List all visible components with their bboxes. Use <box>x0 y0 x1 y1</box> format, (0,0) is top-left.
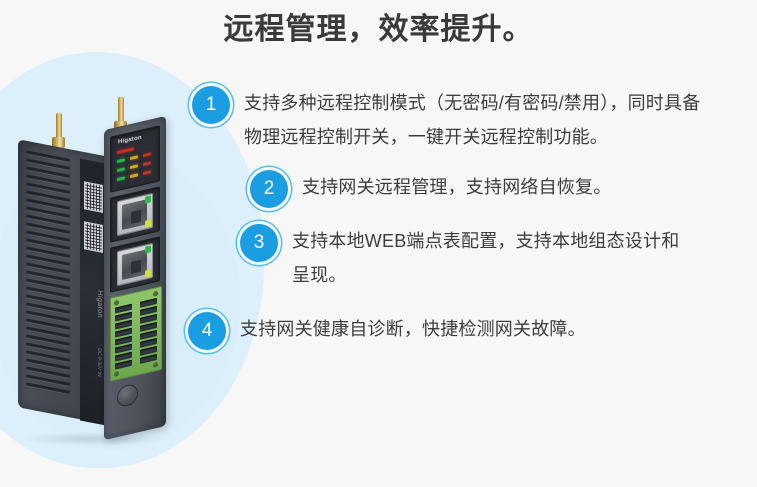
feature-highlight-page: 远程管理，效率提升。 Higaton <box>0 0 757 487</box>
qr-code-secondary-icon <box>84 221 103 253</box>
ethernet-port-1 <box>110 186 160 243</box>
side-print-text: DC 9-36V IN <box>84 345 102 404</box>
side-brand-logo: Higaton <box>83 287 103 335</box>
device-front-panel: Higaton <box>110 125 160 382</box>
status-bar-led <box>117 147 134 154</box>
feature-badge-4: 4 <box>188 312 226 350</box>
ethernet-port-2 <box>110 236 160 293</box>
led-indicator-panel: Higaton <box>110 125 160 193</box>
led-green-2 <box>117 167 125 172</box>
rj45-link-led-1 <box>145 195 151 203</box>
device-drop-shadow <box>18 432 168 446</box>
rj45-act-led-2 <box>145 269 151 277</box>
terminal-rows <box>115 298 157 370</box>
led-red-3 <box>143 170 151 175</box>
led-red-2 <box>143 161 151 166</box>
led-yellow-1 <box>130 155 138 160</box>
feature-badge-1: 1 <box>192 86 230 124</box>
led-yellow-2 <box>130 164 138 169</box>
feature-item-1: 1 支持多种远程控制模式（无密码/有密码/禁用），同时具备物理远程控制开关，一键… <box>192 86 752 154</box>
antenna-rod-left-icon <box>56 113 62 139</box>
led-red-1 <box>143 152 151 157</box>
led-green-1 <box>117 158 125 163</box>
feature-badge-3: 3 <box>240 224 278 262</box>
feature-badge-2: 2 <box>250 170 288 208</box>
led-green-3 <box>117 176 125 181</box>
feature-list: 1 支持多种远程控制模式（无密码/有密码/禁用），同时具备物理远程控制开关，一键… <box>192 86 752 352</box>
product-image: Higaton DC 9-36V IN Higaton <box>18 95 218 455</box>
feature-item-3: 3 支持本地WEB端点表配置，支持本地组态设计和呈现。 <box>240 224 752 292</box>
led-yellow-3 <box>130 173 138 178</box>
feature-item-2: 2 支持网关远程管理，支持网络自恢复。 <box>250 170 752 208</box>
rj45-connector-1-icon <box>117 193 153 236</box>
feature-text-2: 支持网关远程管理，支持网络自恢复。 <box>302 170 611 204</box>
antenna-rod-right-icon <box>118 97 124 123</box>
feature-text-1: 支持多种远程控制模式（无密码/有密码/禁用），同时具备物理远程控制开关，一键开关… <box>244 86 714 154</box>
rj45-connector-2-icon <box>117 243 153 286</box>
rj45-link-led-2 <box>145 245 151 253</box>
ventilation-slots <box>26 150 74 409</box>
page-title: 远程管理，效率提升。 <box>0 9 757 51</box>
rj45-act-led-1 <box>145 219 151 227</box>
qr-code-icon <box>84 181 103 213</box>
feature-item-4: 4 支持网关健康自诊断，快捷检测网关故障。 <box>188 312 752 350</box>
feature-text-4: 支持网关健康自诊断，快捷检测网关故障。 <box>240 312 586 346</box>
feature-text-3: 支持本地WEB端点表配置，支持本地组态设计和呈现。 <box>292 224 692 292</box>
screw-terminal-block <box>110 286 162 382</box>
product-brand-label: Higaton <box>118 135 142 146</box>
device-side-label-strip: Higaton DC 9-36V IN <box>80 158 106 425</box>
